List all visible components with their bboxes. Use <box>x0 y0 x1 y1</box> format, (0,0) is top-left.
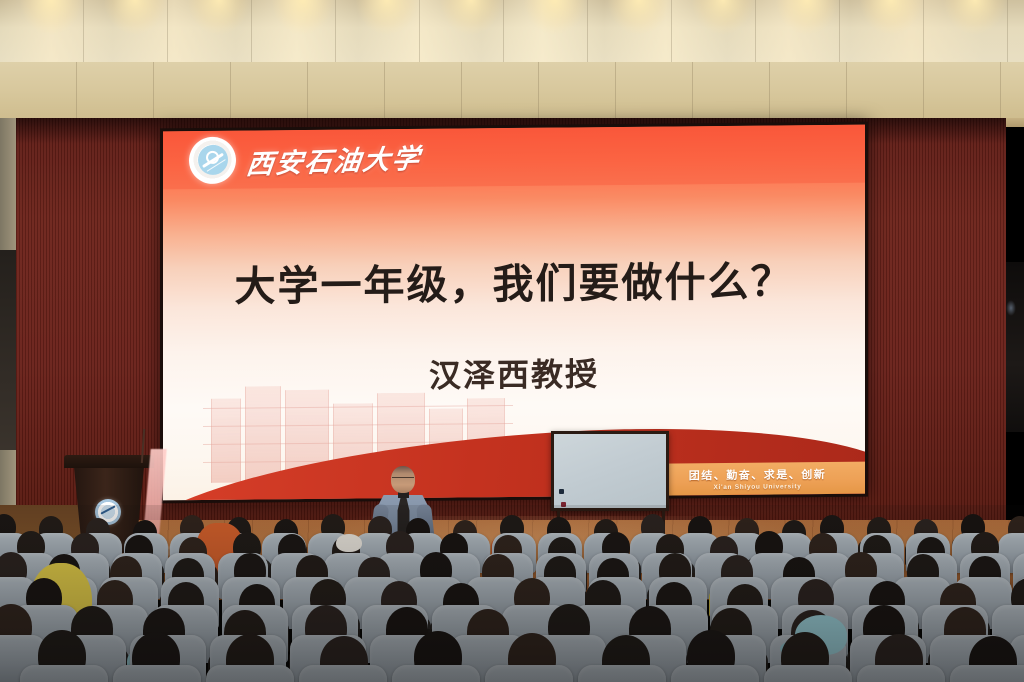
projection-screen-frame: 西安石油大学 大学一年级，我们要做什么？ 汉泽西教授 团结、勤奋、求是 <box>160 122 868 504</box>
audience-row-6 <box>0 505 1024 682</box>
auditorium-seat <box>764 665 852 682</box>
whiteboard-surface <box>554 434 666 508</box>
speaker-highlight <box>1006 300 1016 316</box>
auditorium-seat <box>578 665 666 682</box>
slide-header-band: 西安石油大学 <box>163 125 865 190</box>
audience-seating-area <box>0 505 1024 682</box>
slide-subtitle-presenter: 汉泽西教授 <box>163 347 865 400</box>
motto-english: Xi'an Shiyou University <box>713 483 801 491</box>
whiteboard-magnet-dark <box>559 489 564 494</box>
auditorium-seat <box>950 665 1024 682</box>
auditorium-seat <box>671 665 759 682</box>
presentation-slide: 西安石油大学 大学一年级，我们要做什么？ 汉泽西教授 团结、勤奋、求是 <box>163 125 865 501</box>
stone-header-band <box>0 62 1024 124</box>
slide-title: 大学一年级，我们要做什么？ <box>163 247 865 314</box>
whiteboard <box>551 431 669 511</box>
left-doorway <box>0 250 17 450</box>
auditorium-seat <box>299 665 387 682</box>
auditorium-seat <box>20 665 108 682</box>
auditorium-seat <box>392 665 480 682</box>
university-emblem-icon <box>189 136 236 183</box>
auditorium-seat <box>113 665 201 682</box>
auditorium-seat <box>857 665 945 682</box>
motto-chinese: 团结、勤奋、求是、创新 <box>689 466 827 483</box>
auditorium-seat <box>485 665 573 682</box>
university-name-calligraphy: 西安石油大学 <box>244 136 423 181</box>
wall-panel-seams <box>0 0 1024 70</box>
presenter-glasses-icon <box>392 477 414 481</box>
auditorium-lecture-scene: 西安石油大学 大学一年级，我们要做什么？ 汉泽西教授 团结、勤奋、求是 <box>0 0 1024 682</box>
auditorium-seat <box>206 665 294 682</box>
slide-footer-motto: 团结、勤奋、求是、创新 Xi'an Shiyou University <box>650 462 865 496</box>
